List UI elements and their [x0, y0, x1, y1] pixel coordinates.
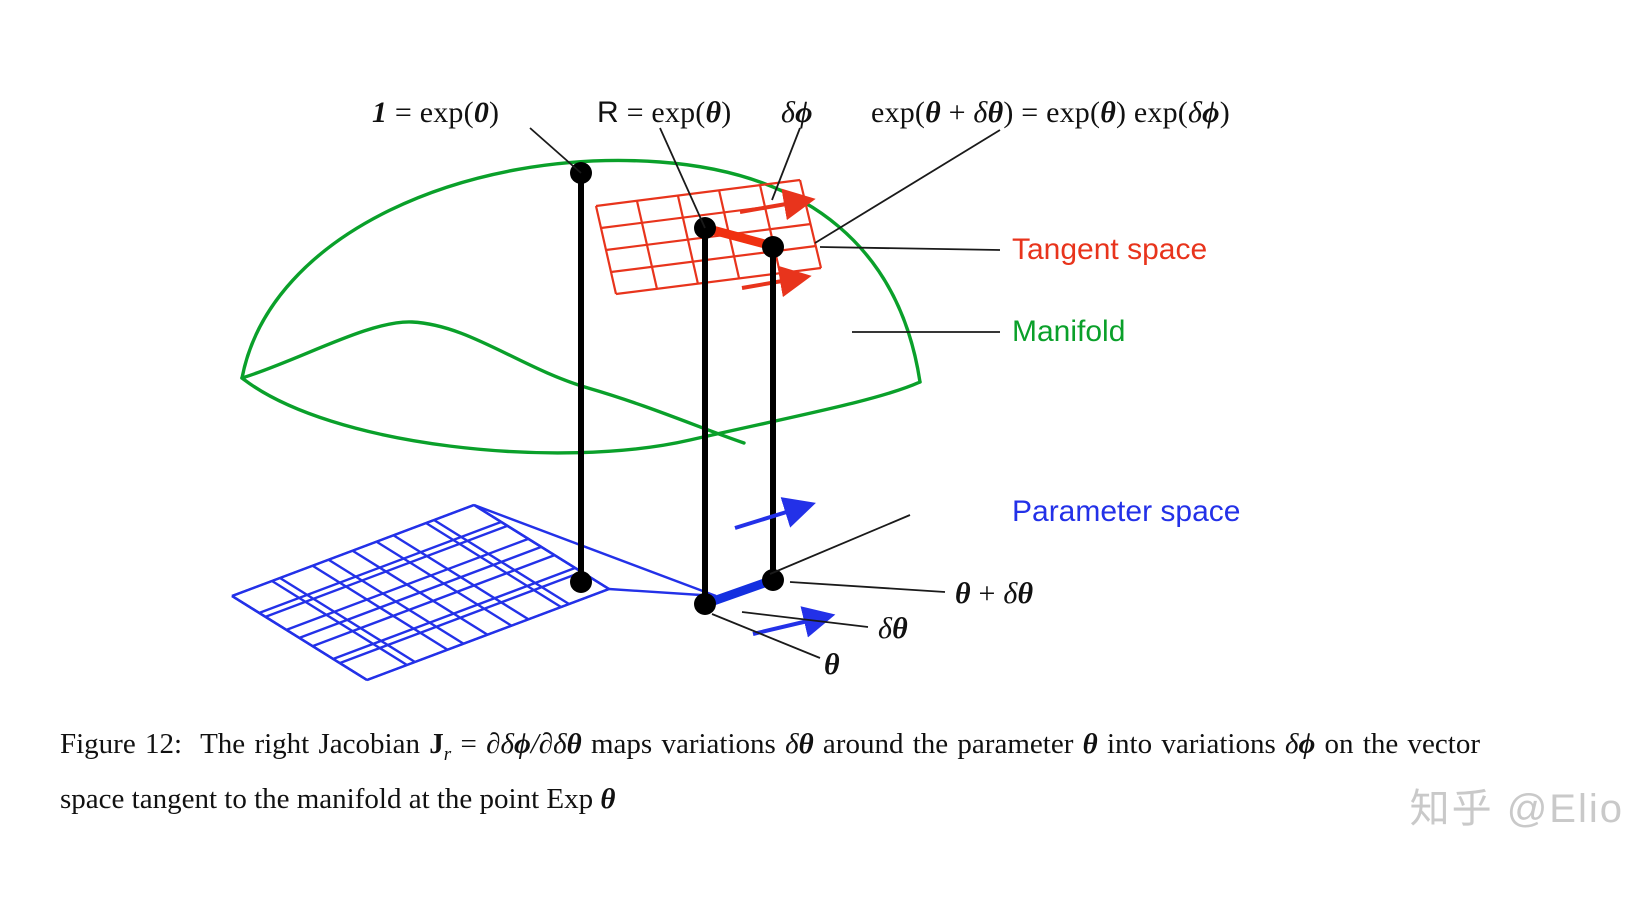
label-parameter-space: Parameter space — [1012, 495, 1240, 529]
label-identity-exp-zero: 1 = exp(0) — [372, 96, 499, 130]
leader-lines-side — [820, 247, 1000, 332]
label-delta-theta: δθ — [878, 612, 908, 646]
label-tangent-space: Tangent space — [1012, 233, 1207, 267]
label-theta-plus-delta-theta: θ + δθ — [955, 577, 1033, 611]
label-exp-composition: exp(θ + δθ) = exp(θ) exp(δϕ) — [871, 96, 1230, 130]
point-zero-param — [570, 571, 592, 593]
label-rotation-exp-theta: R = exp(θ) — [597, 96, 731, 130]
label-theta: θ — [824, 648, 840, 682]
watermark: 知乎 @Elio — [1410, 776, 1624, 834]
figure-caption: Figure 12: The right Jacobian Jr = ∂δϕ/∂… — [60, 722, 1480, 821]
caption-label: Figure 12: — [60, 728, 182, 760]
caption-text-a: The right Jacobian — [182, 728, 429, 760]
label-delta-phi: δϕ — [781, 96, 813, 130]
figure-12-diagram: 1 = exp(0) R = exp(θ) δϕ exp(θ + δθ) = e… — [0, 0, 1642, 907]
point-R-perturbed — [762, 236, 784, 258]
point-theta-param — [694, 593, 716, 615]
label-manifold: Manifold — [1012, 315, 1125, 349]
caption-jacobian-symbol: J — [429, 728, 444, 760]
